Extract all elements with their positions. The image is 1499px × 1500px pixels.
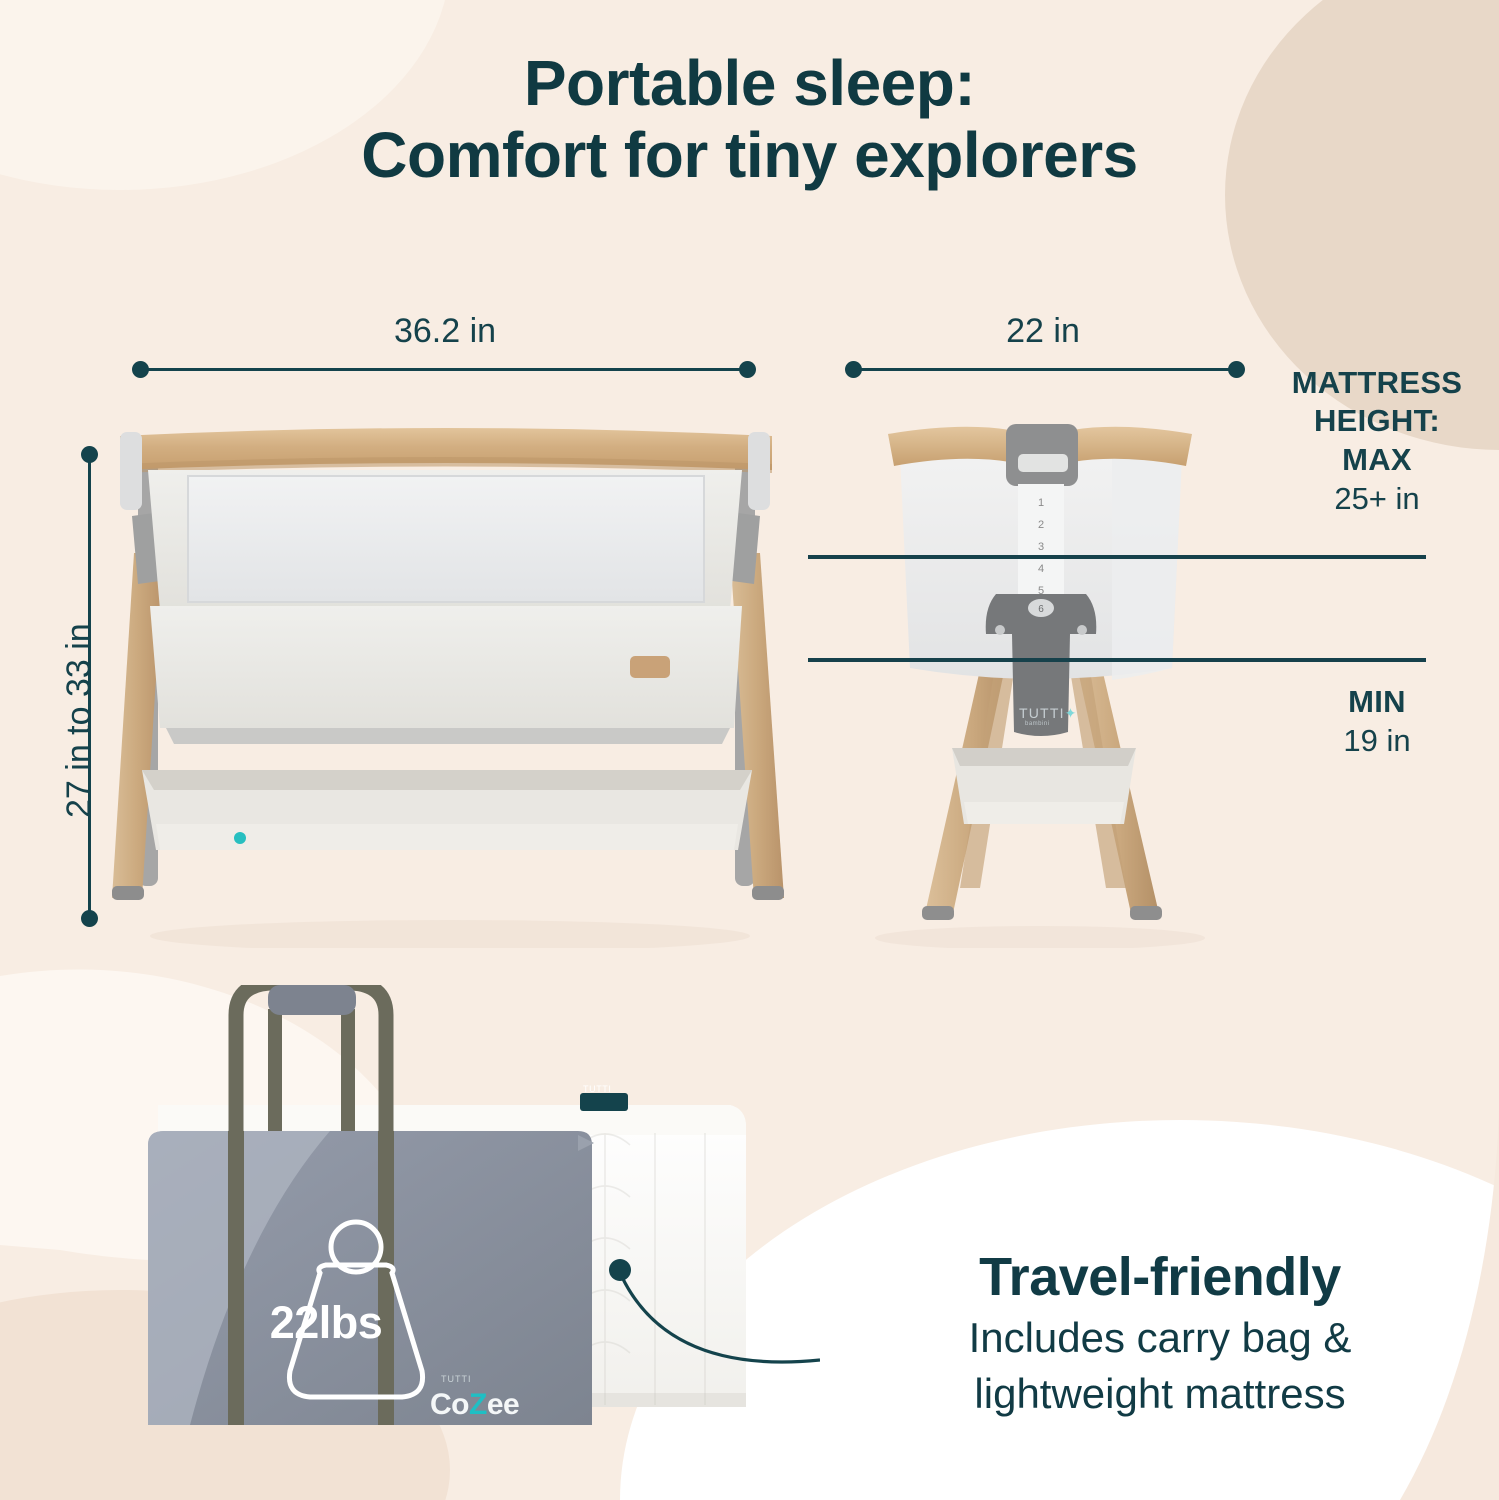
crib-front-view-illustration (90, 418, 800, 948)
side-width-rule (857, 368, 1237, 371)
side-bolt-right (1077, 625, 1087, 635)
crib-side-view-illustration: 1 2 3 4 5 6 (860, 418, 1220, 948)
height-scale-1: 1 (1038, 497, 1044, 509)
mattress-max-value: 25+ in (1262, 479, 1492, 519)
height-scale-2: 2 (1038, 519, 1044, 531)
side-width-dot-left (845, 361, 862, 378)
height-scale-3: 3 (1038, 541, 1044, 553)
front-height-dot-top (81, 446, 98, 463)
side-basket-rim (952, 748, 1136, 766)
carry-bag-and-mattress-illustration (30, 985, 820, 1445)
mattress-label-line2: HEIGHT: (1262, 402, 1492, 440)
crib-mesh-panel (188, 476, 704, 602)
mattress-min-label: MIN (1262, 683, 1492, 721)
mattress-top-edge (158, 1105, 746, 1135)
cozee-co: Co (430, 1388, 469, 1421)
front-width-dot-left (132, 361, 149, 378)
leader-dot (609, 1259, 631, 1281)
headline-line-2: Comfort for tiny explorers (0, 120, 1499, 192)
mattress-label-line1: MATTRESS (1262, 364, 1492, 402)
front-height-dot-bottom (81, 910, 98, 927)
crib-brand-tab (630, 656, 670, 678)
mattress-height-min-guide-line (808, 658, 1426, 662)
crib-basket-rim (142, 770, 752, 790)
crib-foot-right (752, 886, 784, 900)
weight-badge-label: 22lbs (256, 1297, 396, 1349)
travel-friendly-sub-line1: Includes carry bag & (845, 1313, 1475, 1363)
crib-base-underside (166, 728, 730, 744)
side-mesh-right (1112, 454, 1182, 680)
mattress-height-min-block: MIN 19 in (1262, 683, 1492, 762)
bag-body-strap-left (228, 1131, 244, 1425)
crib-strap-left (120, 432, 142, 510)
front-height-label: 27 in to 33 in (60, 623, 99, 818)
crib-teal-accent-dot (234, 832, 246, 844)
page-title: Portable sleep: Comfort for tiny explore… (0, 48, 1499, 191)
side-brand-logo: TUTTI✦ (1019, 705, 1078, 722)
bag-cozee-logo: CoZee (430, 1388, 519, 1422)
side-width-dot-right (1228, 361, 1245, 378)
front-height-rule (88, 458, 91, 918)
mattress-brand-tag (580, 1093, 628, 1111)
side-foot-left (922, 906, 954, 920)
front-width-label: 36.2 in (138, 312, 752, 351)
crib-foot-left (112, 886, 144, 900)
mattress-height-max-block: MATTRESS HEIGHT: MAX 25+ in (1262, 364, 1492, 520)
bag-handle-grip (268, 985, 356, 1015)
travel-friendly-block: Travel-friendly Includes carry bag & lig… (845, 1248, 1475, 1418)
mattress-min-value: 19 in (1262, 721, 1492, 761)
side-foot-right (1130, 906, 1162, 920)
travel-friendly-title: Travel-friendly (845, 1248, 1475, 1307)
front-width-rule (145, 368, 747, 371)
crib-strap-right (748, 432, 770, 510)
bag-brand-small: TUTTI (441, 1374, 472, 1384)
side-bolt-left (995, 625, 1005, 635)
height-scale-4: 4 (1038, 563, 1044, 575)
mattress-height-max-guide-line (808, 555, 1426, 559)
height-scale-6: 6 (1038, 604, 1044, 615)
front-width-dot-right (739, 361, 756, 378)
side-brand-sub: bambini (1025, 721, 1050, 727)
crib-shadow (150, 920, 750, 948)
side-crib-shadow (875, 926, 1205, 948)
cozee-z: Z (469, 1388, 487, 1421)
side-clamp-release (1018, 454, 1068, 472)
travel-friendly-sub-line2: lightweight mattress (845, 1369, 1475, 1419)
mattress-max-label: MAX (1262, 441, 1492, 479)
mattress-brand-label: TUTTI (583, 1084, 612, 1094)
brand-tick-icon: ✦ (1065, 705, 1078, 721)
side-basket-front (964, 802, 1124, 824)
headline-line-1: Portable sleep: (524, 47, 975, 119)
side-width-label: 22 in (848, 312, 1238, 351)
cozee-ee: ee (487, 1388, 519, 1421)
